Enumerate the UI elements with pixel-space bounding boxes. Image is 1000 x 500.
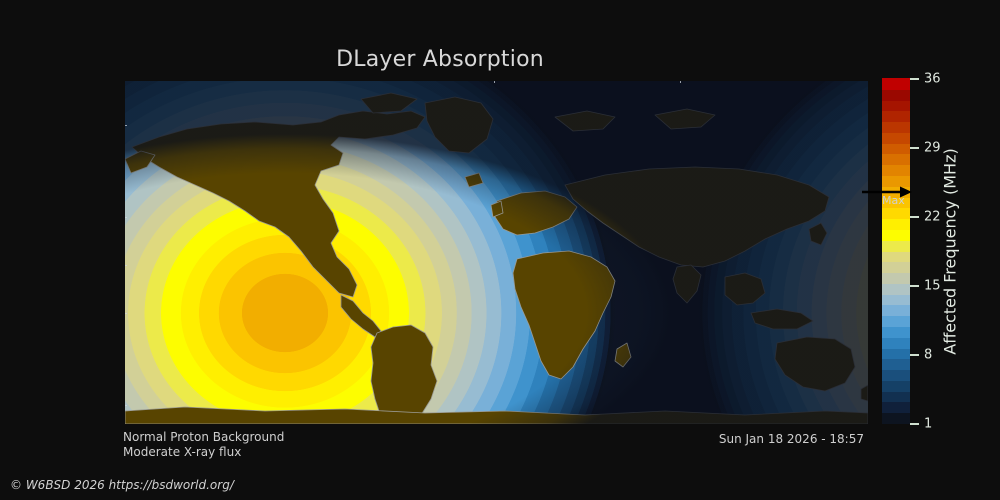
gridline-horizontal — [125, 265, 868, 266]
colorbar-tick-label: 8 — [924, 348, 932, 363]
colorbar-segment — [882, 294, 910, 305]
colorbar-segment — [882, 165, 910, 176]
colorbar-segment — [882, 316, 910, 327]
colorbar-segment — [882, 219, 910, 230]
colorbar-axis-label-text: Affected Frequency (MHz) — [941, 148, 960, 354]
colorbar-segment — [882, 305, 910, 316]
map-gridlines — [125, 81, 868, 424]
colorbar-tick-mark — [910, 285, 919, 287]
colorbar-segment — [882, 122, 910, 133]
colorbar-segment — [882, 337, 910, 348]
colorbar-segment — [882, 89, 910, 100]
colorbar-segment — [882, 132, 910, 143]
copyright-credit: © W6BSD 2026 https://bsdworld.org/ — [10, 478, 234, 492]
gridline-horizontal — [125, 313, 868, 314]
colorbar-segment — [882, 413, 910, 424]
xray-flux-note: Moderate X-ray flux — [123, 445, 241, 459]
affected-frequency-colorbar[interactable] — [882, 79, 910, 424]
page-title: DLayer Absorption — [0, 47, 880, 72]
colorbar-segment — [882, 229, 910, 240]
colorbar-tick-mark — [910, 216, 919, 218]
colorbar-segment — [882, 359, 910, 370]
colorbar-segment — [882, 348, 910, 359]
colorbar-tick-mark — [910, 423, 919, 425]
gridline-vertical — [680, 81, 681, 424]
colorbar-segment — [882, 402, 910, 413]
colorbar-tick-label: 1 — [924, 417, 932, 432]
gridline-horizontal — [125, 217, 868, 218]
colorbar-segment — [882, 240, 910, 251]
colorbar-segment — [882, 370, 910, 381]
gridline-horizontal — [125, 405, 868, 406]
colorbar-segment — [882, 111, 910, 122]
dlayer-absorption-screen: DLayer Absorption — [0, 0, 1000, 500]
colorbar-segment — [882, 391, 910, 402]
colorbar-tick-mark — [910, 354, 919, 356]
colorbar-segment — [882, 272, 910, 283]
max-marker-label: Max — [882, 194, 905, 207]
colorbar-segment — [882, 283, 910, 294]
timestamp-label: Sun Jan 18 2026 - 18:57 — [719, 432, 864, 446]
gridline-vertical — [494, 81, 495, 424]
colorbar-segment — [882, 251, 910, 262]
colorbar-segment — [882, 100, 910, 111]
colorbar-segment — [882, 208, 910, 219]
world-absorption-map[interactable] — [125, 81, 868, 424]
colorbar-segment — [882, 326, 910, 337]
colorbar-tick-mark — [910, 78, 919, 80]
colorbar-segment — [882, 78, 910, 89]
colorbar-segment — [882, 154, 910, 165]
colorbar-segment — [882, 143, 910, 154]
gridline-horizontal — [125, 125, 868, 126]
colorbar-axis-label: Affected Frequency (MHz) — [938, 79, 962, 424]
colorbar-segment — [882, 262, 910, 273]
colorbar-segment — [882, 380, 910, 391]
proton-background-note: Normal Proton Background — [123, 430, 284, 444]
colorbar-tick-mark — [910, 147, 919, 149]
